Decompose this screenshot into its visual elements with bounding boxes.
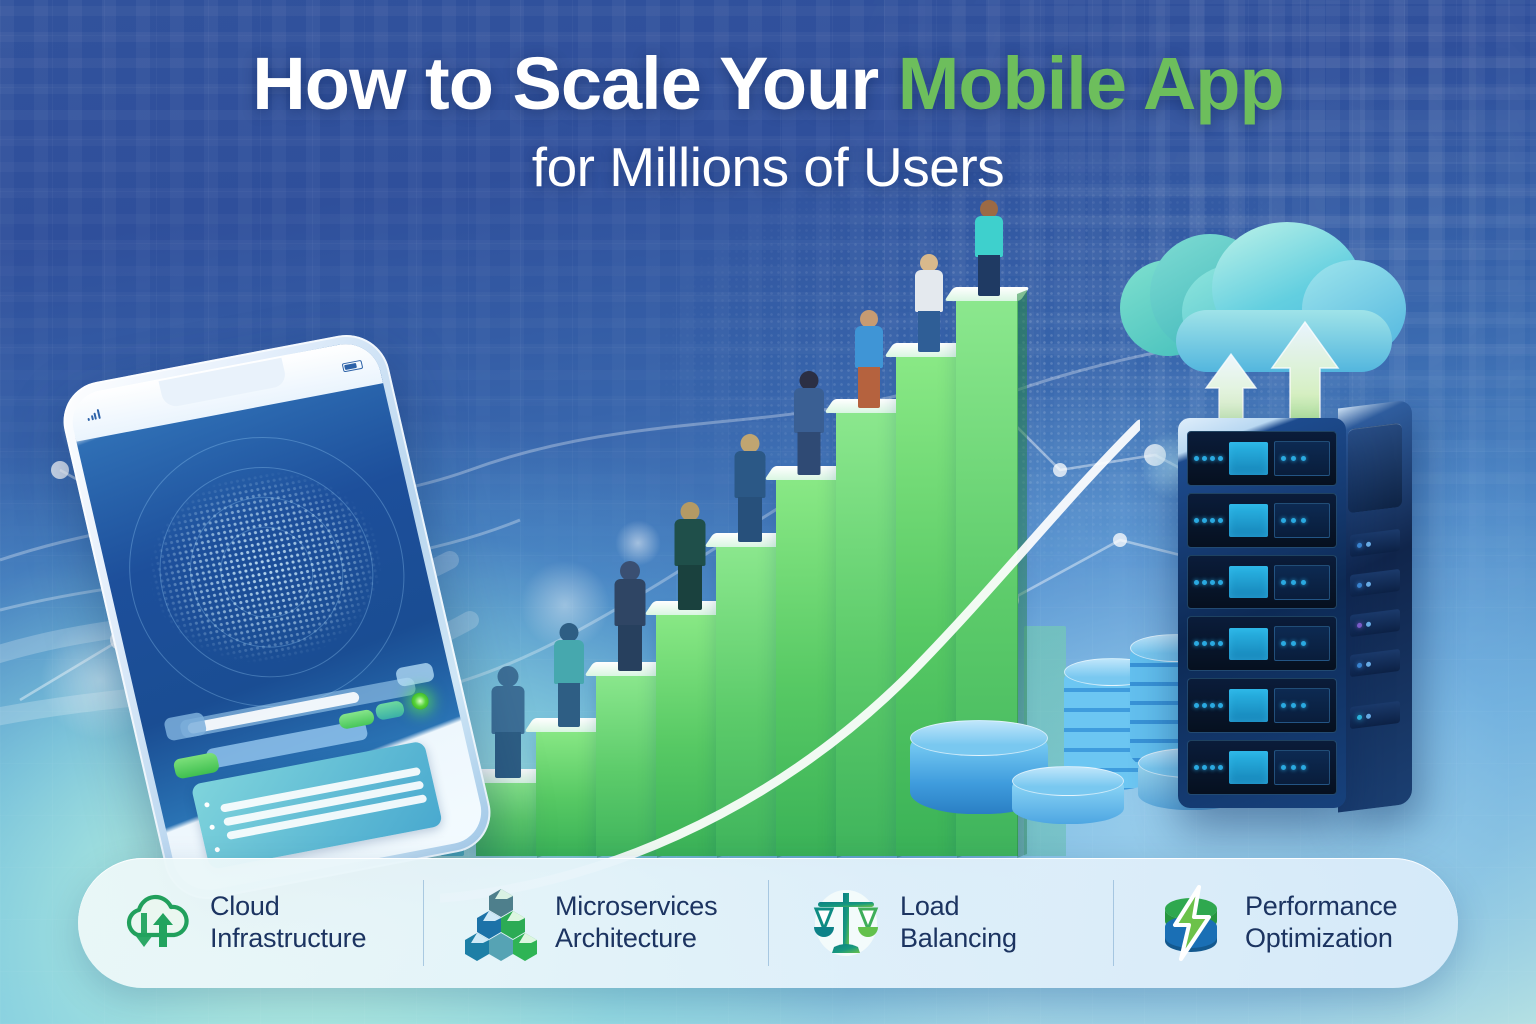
phone-world-map xyxy=(103,422,428,713)
db-cylinder-top xyxy=(1012,766,1124,796)
feature-line-1: Performance xyxy=(1245,891,1397,921)
page-subtitle: for Millions of Users xyxy=(0,135,1536,199)
feature-item-microservices-architecture[interactable]: Microservices Architecture xyxy=(423,858,768,988)
feature-bar: Cloud Infrastructure xyxy=(78,858,1458,988)
chart-bar xyxy=(656,610,718,856)
server-side-panel xyxy=(1338,399,1412,812)
server-unit xyxy=(1187,431,1337,486)
person-figure xyxy=(548,623,590,727)
feature-line-2: Balancing xyxy=(900,923,1017,955)
feature-line-2: Architecture xyxy=(555,923,717,955)
cloud-stack xyxy=(1116,212,1416,402)
server-unit xyxy=(1187,616,1337,671)
phone-pill-green-1 xyxy=(172,752,220,780)
hexagon-cluster-icon xyxy=(463,885,539,961)
server-unit xyxy=(1187,493,1337,548)
person-figure xyxy=(728,434,772,542)
person-figure xyxy=(908,254,950,352)
feature-line-1: Load xyxy=(900,891,959,921)
feature-label-microservices-architecture: Microservices Architecture xyxy=(555,891,717,955)
signal-bars-icon xyxy=(86,409,101,421)
person-figure xyxy=(968,200,1010,296)
balance-scales-icon xyxy=(808,885,884,961)
person-figure xyxy=(608,561,652,671)
feature-line-1: Cloud xyxy=(210,891,280,921)
feature-label-load-balancing: Load Balancing xyxy=(900,891,1017,955)
feature-item-cloud-infrastructure[interactable]: Cloud Infrastructure xyxy=(78,858,423,988)
db-cylinder-top xyxy=(910,720,1048,756)
feature-line-2: Infrastructure xyxy=(210,923,366,955)
server-unit xyxy=(1187,678,1337,733)
person-figure xyxy=(788,371,830,475)
feature-item-load-balancing[interactable]: Load Balancing xyxy=(768,858,1113,988)
server-unit xyxy=(1187,740,1337,795)
feature-label-performance-optimization: Performance Optimization xyxy=(1245,891,1397,955)
server-unit xyxy=(1187,555,1337,610)
person-figure xyxy=(848,310,890,408)
chart-bar xyxy=(596,671,658,856)
title-part-accent: Mobile App xyxy=(898,42,1284,125)
phone-pill-green-2 xyxy=(338,708,375,729)
chart-bar xyxy=(716,542,778,856)
person-figure xyxy=(484,666,532,778)
server-front-panel xyxy=(1178,418,1346,808)
person-figure xyxy=(668,502,712,610)
page-title: How to Scale Your Mobile App xyxy=(0,46,1536,121)
title-part-white: How to Scale Your xyxy=(252,42,897,125)
green-status-dot xyxy=(410,692,431,712)
title-block: How to Scale Your Mobile App for Million… xyxy=(0,46,1536,199)
battery-icon xyxy=(342,359,364,372)
feature-item-performance-optimization[interactable]: Performance Optimization xyxy=(1113,858,1458,988)
lightning-bolt-ribbon-icon xyxy=(1153,885,1229,961)
phone-pill-green-3 xyxy=(374,700,405,720)
feature-label-cloud-infrastructure: Cloud Infrastructure xyxy=(210,891,366,955)
phone-notch xyxy=(159,358,288,408)
cloud-upload-download-icon xyxy=(118,885,194,961)
chart-bar xyxy=(836,408,898,856)
feature-line-2: Optimization xyxy=(1245,923,1397,955)
hero-banner: How to Scale Your Mobile App for Million… xyxy=(0,0,1536,1024)
chart-bar xyxy=(776,475,838,856)
chart-bar xyxy=(536,727,598,856)
server-rack xyxy=(1178,418,1408,808)
feature-line-1: Microservices xyxy=(555,891,717,921)
